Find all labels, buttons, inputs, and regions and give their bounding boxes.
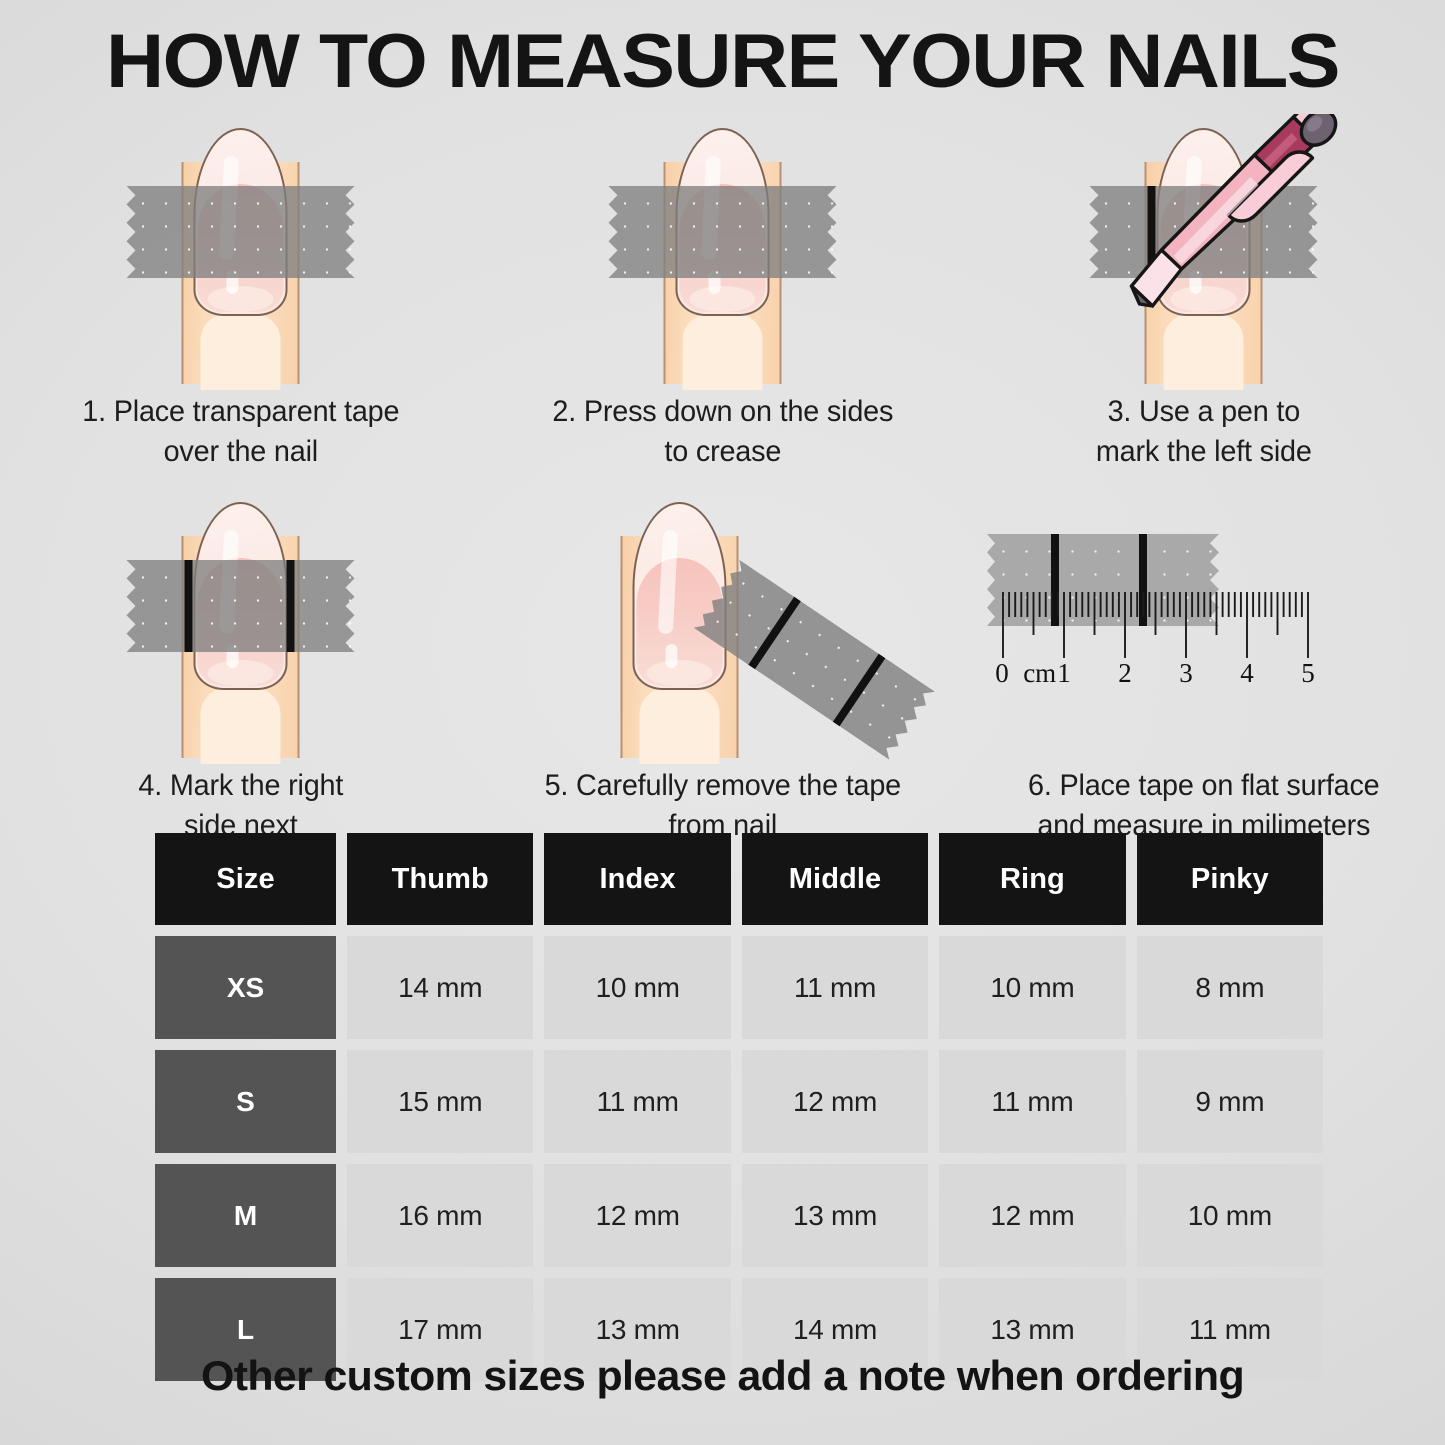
step-5-illustration	[482, 500, 964, 760]
steps-row-1: 1. Place transparent tape over the nail	[0, 118, 1445, 472]
pen-illustration	[1115, 114, 1365, 334]
tape-texture-dots	[127, 186, 355, 278]
step-2: 2. Press down on the sides to crease	[482, 118, 964, 472]
step-1-caption: 1. Place transparent tape over the nail	[10, 392, 472, 472]
cell-s-middle: 12 mm	[742, 1050, 928, 1153]
step-5-caption-line1: 5. Carefully remove the tape	[491, 766, 953, 806]
cell-m-middle: 13 mm	[742, 1164, 928, 1267]
ruler-tick-5: 5	[1301, 658, 1315, 689]
finger-knuckle	[201, 314, 281, 390]
cell-s-pinky: 9 mm	[1137, 1050, 1323, 1153]
finger-illustration	[0, 118, 481, 386]
cell-m-thumb: 16 mm	[347, 1164, 533, 1267]
cell-xs-ring: 10 mm	[939, 936, 1125, 1039]
nail-tip-highlight	[646, 660, 712, 686]
cell-m-pinky: 10 mm	[1137, 1164, 1323, 1267]
step-4-illustration	[0, 500, 482, 760]
finger-illustration	[482, 118, 963, 386]
infographic-canvas: HOW TO MEASURE YOUR NAILS	[0, 0, 1445, 1445]
nail-tip-highlight	[208, 660, 274, 686]
table-row: M 16 mm 12 mm 13 mm 12 mm 10 mm	[155, 1164, 1323, 1267]
nail-tip-highlight	[208, 286, 274, 312]
step-6-illustration: 0 cm 1 2 3 4 5	[963, 500, 1445, 760]
transparent-tape	[127, 186, 355, 278]
step-1-caption-line2: over the nail	[10, 432, 472, 472]
step-1-illustration	[0, 118, 482, 386]
ruler-tick-1: 1	[1057, 658, 1071, 689]
finger-illustration	[0, 500, 481, 760]
fingernail	[632, 502, 726, 690]
right-pen-mark	[287, 560, 295, 652]
table-row: S 15 mm 11 mm 12 mm 11 mm 9 mm	[155, 1050, 1323, 1153]
cell-m-ring: 12 mm	[939, 1164, 1125, 1267]
cell-xs-thumb: 14 mm	[347, 936, 533, 1039]
table-header-pinky: Pinky	[1137, 833, 1323, 925]
ruler-unit-label: cm	[1023, 658, 1056, 689]
ruler-tick-0: 0	[995, 658, 1009, 689]
tape-texture-dots	[127, 560, 355, 652]
pen-icon	[1115, 114, 1365, 334]
step-2-caption-line1: 2. Press down on the sides	[491, 392, 953, 432]
step-3-illustration	[963, 118, 1445, 386]
step-2-caption: 2. Press down on the sides to crease	[491, 392, 953, 472]
finger-illustration	[482, 500, 963, 760]
size-chart-table: Size Thumb Index Middle Ring Pinky XS 14…	[155, 833, 1323, 1392]
step-3-caption-line1: 3. Use a pen to	[973, 392, 1435, 432]
ruler-tick-3: 3	[1179, 658, 1193, 689]
cell-xs-index: 10 mm	[544, 936, 730, 1039]
step-2-illustration	[482, 118, 964, 386]
cell-xs-middle: 11 mm	[742, 936, 928, 1039]
step-2-caption-line2: to crease	[491, 432, 953, 472]
ruler-tick-4: 4	[1240, 658, 1254, 689]
tape-texture-dots	[608, 186, 836, 278]
step-1: 1. Place transparent tape over the nail	[0, 118, 482, 472]
table-header-size: Size	[155, 833, 336, 925]
left-pen-mark	[185, 560, 193, 652]
step-1-caption-line1: 1. Place transparent tape	[10, 392, 472, 432]
page-title: HOW TO MEASURE YOUR NAILS	[0, 24, 1445, 100]
finger-knuckle	[639, 688, 719, 764]
table-header-row: Size Thumb Index Middle Ring Pinky	[155, 833, 1323, 925]
table-header-thumb: Thumb	[347, 833, 533, 925]
size-label-m: M	[155, 1164, 336, 1267]
table-header-middle: Middle	[742, 833, 928, 925]
step-6: 0 cm 1 2 3 4 5 6. Place tape on flat sur…	[963, 500, 1445, 846]
step-5: 5. Carefully remove the tape from nail	[482, 500, 964, 846]
size-label-s: S	[155, 1050, 336, 1153]
footer-note: Other custom sizes please add a note whe…	[0, 1352, 1445, 1400]
finger-knuckle	[201, 688, 281, 764]
size-label-xs: XS	[155, 936, 336, 1039]
cell-s-thumb: 15 mm	[347, 1050, 533, 1153]
table-header-index: Index	[544, 833, 730, 925]
finger-illustration	[963, 118, 1444, 386]
ruler-illustration: 0 cm 1 2 3 4 5	[1001, 592, 1357, 700]
table-header-ring: Ring	[939, 833, 1125, 925]
step-3-caption-line2: mark the left side	[973, 432, 1435, 472]
step-4-caption-line1: 4. Mark the right	[10, 766, 472, 806]
ruler-labels: 0 cm 1 2 3 4 5	[1001, 658, 1357, 698]
step-4: 4. Mark the right side next	[0, 500, 482, 846]
steps-grid: 1. Place transparent tape over the nail	[0, 118, 1445, 846]
step-3: 3. Use a pen to mark the left side	[963, 118, 1445, 472]
double-marked-tape	[127, 560, 355, 652]
finger-knuckle	[682, 314, 762, 390]
ruler-tick-2: 2	[1118, 658, 1132, 689]
cell-m-index: 12 mm	[544, 1164, 730, 1267]
step-6-caption-line1: 6. Place tape on flat surface	[973, 766, 1435, 806]
cell-xs-pinky: 8 mm	[1137, 936, 1323, 1039]
cell-s-ring: 11 mm	[939, 1050, 1125, 1153]
steps-row-2: 4. Mark the right side next	[0, 500, 1445, 846]
table-row: XS 14 mm 10 mm 11 mm 10 mm 8 mm	[155, 936, 1323, 1039]
step-3-caption: 3. Use a pen to mark the left side	[973, 392, 1435, 472]
nail-tip-highlight	[689, 286, 755, 312]
creased-tape	[608, 186, 836, 278]
cell-s-index: 11 mm	[544, 1050, 730, 1153]
nail-shine-small	[665, 644, 677, 668]
